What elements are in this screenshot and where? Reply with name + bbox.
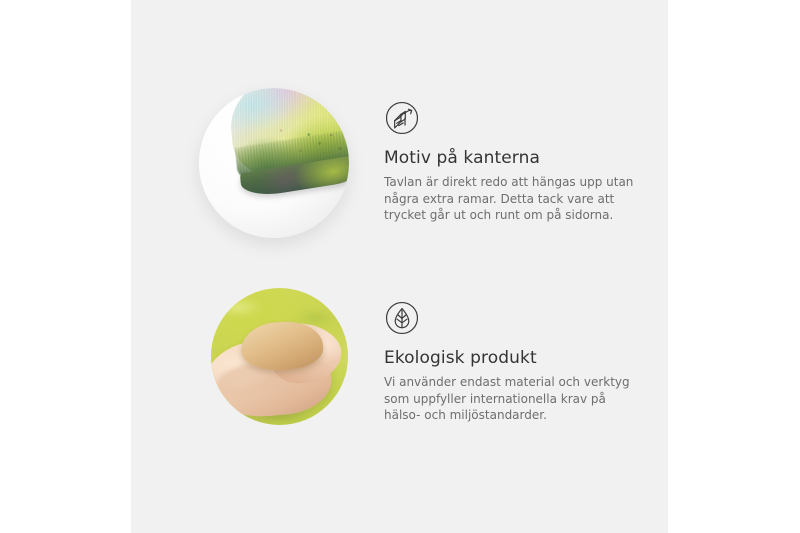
canvas-corner-illustration xyxy=(226,88,349,210)
hands-with-wood-chips-photo xyxy=(211,288,348,425)
feature-title-eco-product: Ekologisk produkt xyxy=(384,348,664,368)
wood-chips-pile xyxy=(239,319,324,373)
white-disc-backdrop xyxy=(199,88,349,238)
content-panel: Motiv på kanterna Tavlan är direkt redo … xyxy=(131,0,668,533)
leaf-icon xyxy=(384,300,420,336)
feature-description-eco-product: Vi använder endast material och verktyg … xyxy=(384,374,646,424)
feature-text-eco-product: Ekologisk produkt Vi använder endast mat… xyxy=(384,288,664,424)
canvas-corner-photo xyxy=(199,88,349,238)
feature-block-eco-product: Ekologisk produkt Vi använder endast mat… xyxy=(131,288,668,448)
product-feature-infographic: Motiv på kanterna Tavlan är direkt redo … xyxy=(0,0,800,533)
canvas-wrapped-edge-icon xyxy=(384,100,420,136)
feature-description-canvas-edges: Tavlan är direkt redo att hängas upp uta… xyxy=(384,174,646,224)
feature-text-canvas-edges: Motiv på kanterna Tavlan är direkt redo … xyxy=(384,88,664,224)
feature-title-canvas-edges: Motiv på kanterna xyxy=(384,148,664,168)
feature-block-canvas-edges: Motiv på kanterna Tavlan är direkt redo … xyxy=(131,88,668,248)
